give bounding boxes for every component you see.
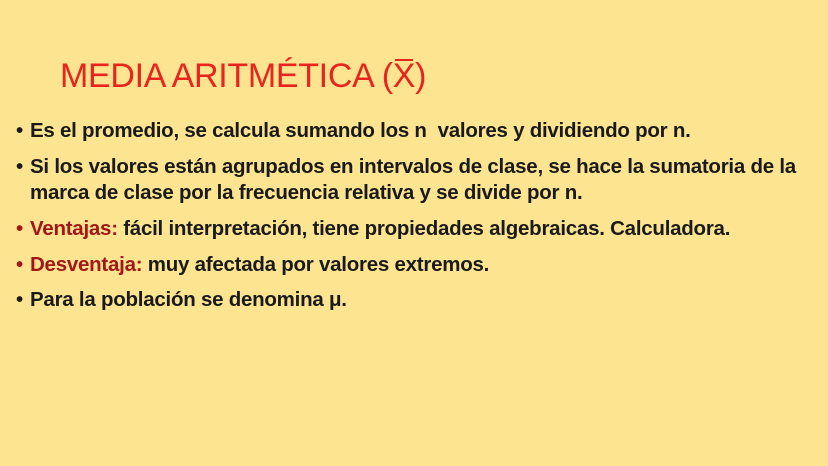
bullet-marker-icon: • bbox=[16, 118, 23, 145]
list-item-lead-label: Ventajas: bbox=[30, 217, 118, 240]
list-item: •Ventajas: fácil interpretación, tiene p… bbox=[16, 216, 814, 243]
list-item: •Desventaja: muy afectada por valores ex… bbox=[16, 252, 814, 279]
list-item-text: Para la población se denomina μ. bbox=[30, 288, 347, 311]
list-item-text: Si los valores están agrupados en interv… bbox=[30, 155, 801, 205]
macron-overbar-icon bbox=[395, 59, 414, 61]
x-bar-letter: X bbox=[393, 57, 415, 95]
x-bar-symbol: X bbox=[393, 59, 415, 95]
bullet-marker-icon: • bbox=[16, 252, 23, 279]
list-item-lead-label: Desventaja: bbox=[30, 253, 142, 276]
slide: MEDIA ARITMÉTICA (X) • Es el promedio, s… bbox=[0, 0, 828, 466]
page-title: MEDIA ARITMÉTICA (X) bbox=[60, 59, 426, 95]
list-item-text: Es el promedio, se calcula sumando los n… bbox=[30, 119, 691, 142]
list-item: • Si los valores están agrupados en inte… bbox=[16, 154, 814, 207]
title-block: MEDIA ARITMÉTICA (X) bbox=[0, 36, 828, 117]
list-item: • Es el promedio, se calcula sumando los… bbox=[16, 118, 814, 145]
list-item: • Para la población se denomina μ. bbox=[16, 287, 814, 314]
title-prefix: MEDIA ARITMÉTICA ( bbox=[60, 57, 393, 95]
list-item-text: fácil interpretación, tiene propiedades … bbox=[118, 217, 730, 240]
list-item-text: muy afectada por valores extremos. bbox=[142, 253, 489, 276]
bullet-marker-icon: • bbox=[16, 287, 23, 314]
bullet-marker-icon: • bbox=[16, 154, 23, 181]
bullet-list: • Es el promedio, se calcula sumando los… bbox=[0, 118, 828, 314]
bullet-marker-icon: • bbox=[16, 216, 23, 243]
title-suffix: ) bbox=[415, 57, 426, 95]
